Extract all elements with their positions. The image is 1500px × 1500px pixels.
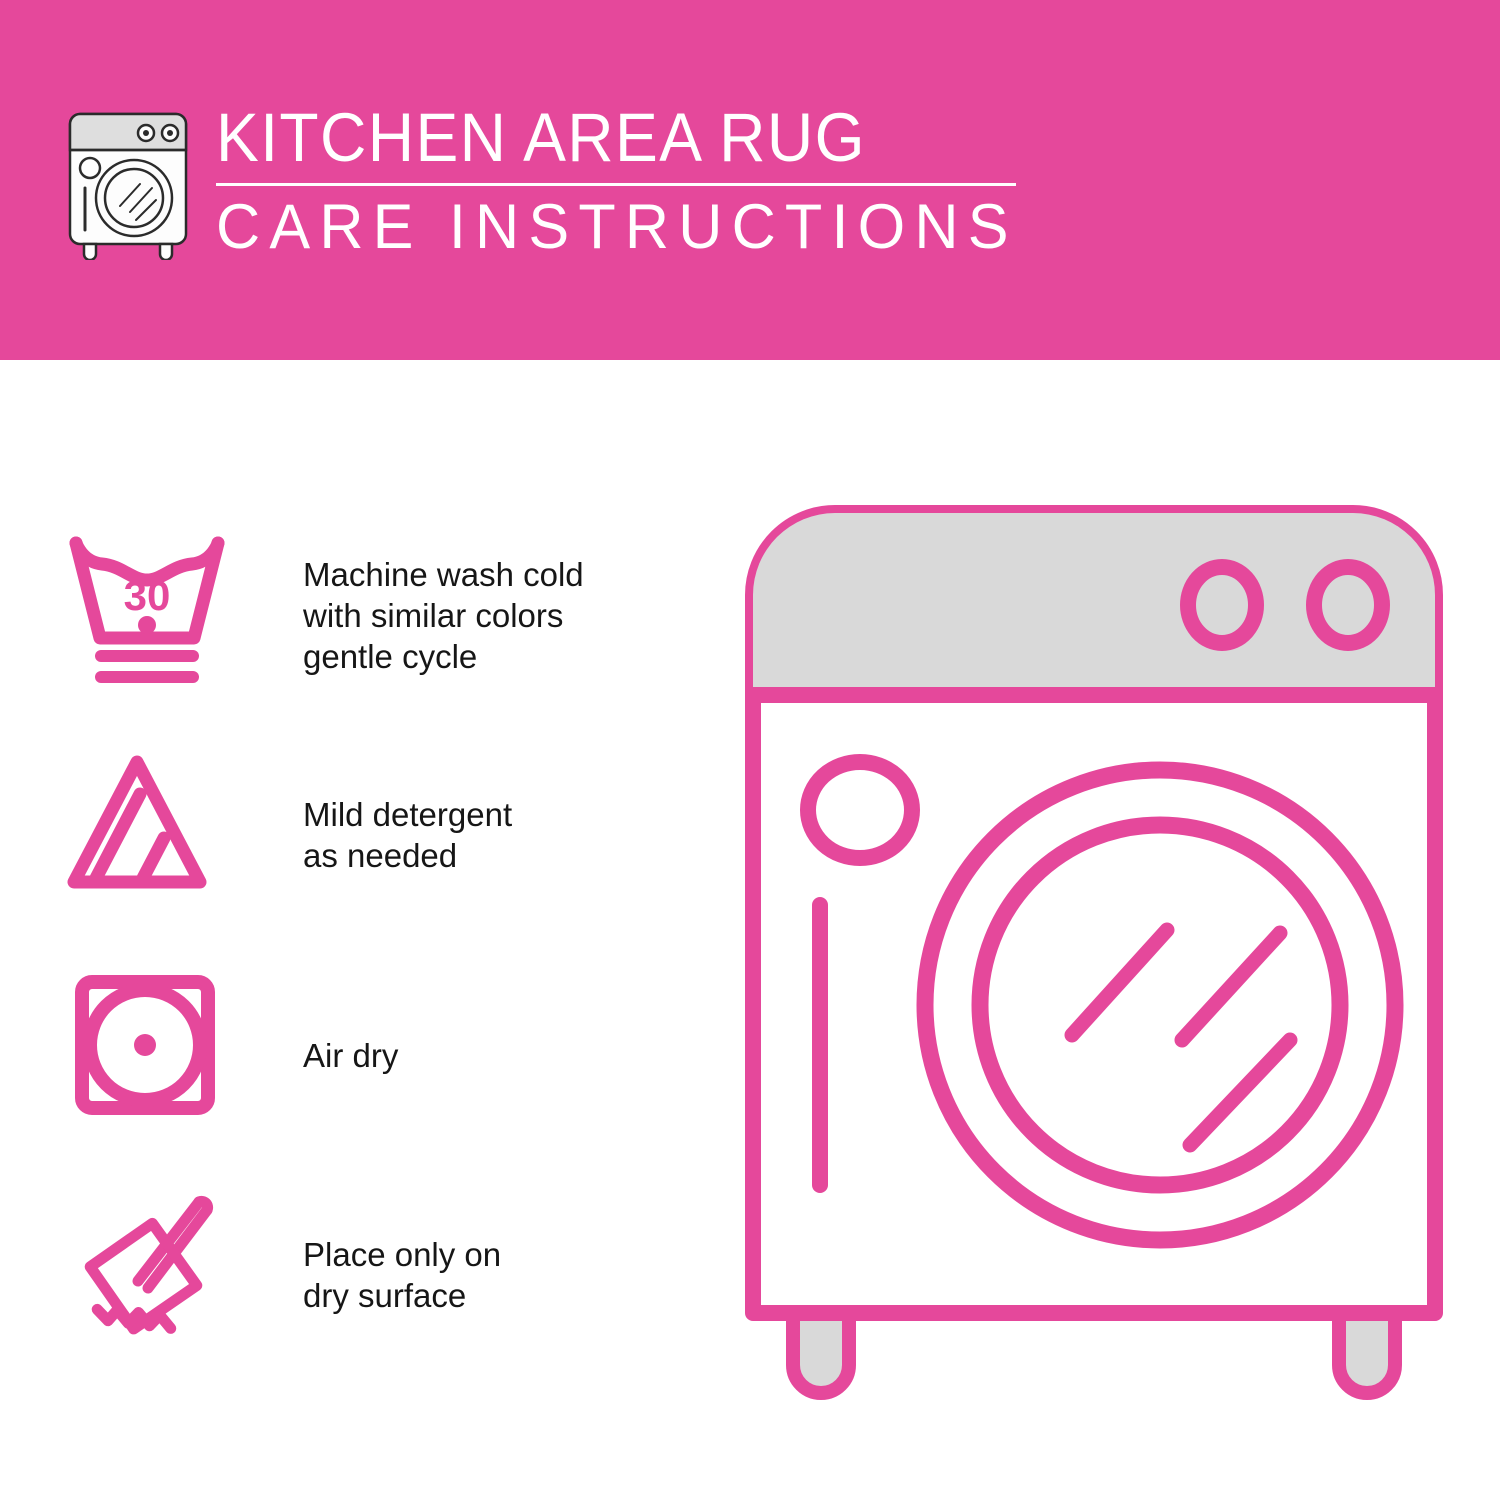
leg-right	[1339, 1310, 1395, 1393]
control-panel	[753, 513, 1435, 695]
care-item-label: Place only on dry surface	[303, 1234, 501, 1316]
wash-temperature-label: 30	[124, 572, 171, 619]
care-item-label: Air dry	[303, 1035, 398, 1076]
header-divider	[216, 183, 1016, 186]
broom-icon	[60, 1188, 235, 1363]
care-item-label: Mild detergent as needed	[303, 794, 512, 876]
triangle-bleach-icon	[60, 748, 235, 923]
care-item-dry-surface: Place only on dry surface	[0, 1180, 680, 1370]
page-title: KITCHEN AREA RUG	[216, 100, 969, 176]
care-item-air-dry: Air dry	[0, 960, 680, 1150]
header-washing-machine-icon	[62, 108, 194, 260]
care-instructions-poster: KITCHEN AREA RUG CARE INSTRUCTIONS 30	[0, 0, 1500, 1500]
tumble-dry-square-icon	[60, 968, 235, 1143]
care-item-mild-detergent: Mild detergent as needed	[0, 740, 680, 930]
care-item-label: Machine wash cold with similar colors ge…	[303, 554, 584, 677]
header-text-block: KITCHEN AREA RUG CARE INSTRUCTIONS	[216, 100, 1026, 264]
header-band: KITCHEN AREA RUG CARE INSTRUCTIONS	[0, 0, 1500, 360]
care-item-machine-wash: 30 Machine wash cold with similar colors…	[0, 520, 680, 710]
page-subtitle: CARE INSTRUCTIONS	[216, 190, 1002, 264]
care-instructions-list: 30 Machine wash cold with similar colors…	[0, 360, 680, 1500]
wash-tub-30-gentle-icon: 30	[60, 528, 235, 703]
leg-left	[793, 1310, 849, 1393]
washing-machine-illustration	[735, 495, 1455, 1425]
